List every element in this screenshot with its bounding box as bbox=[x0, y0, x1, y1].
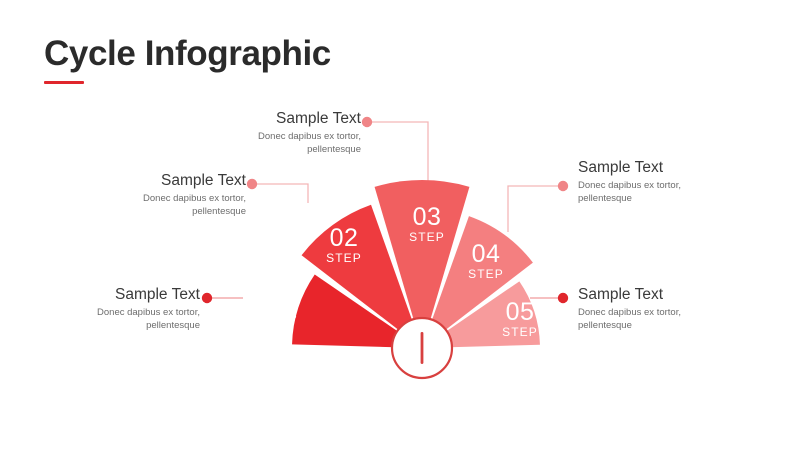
callout-01[interactable]: Sample Text Donec dapibus ex tortor,pell… bbox=[72, 286, 200, 332]
callout-dot-01[interactable] bbox=[202, 293, 212, 303]
callout-02[interactable]: Sample Text Donec dapibus ex tortor,pell… bbox=[118, 172, 246, 218]
callout-description-05: Donec dapibus ex tortor,pellentesque bbox=[578, 307, 718, 333]
cycle-fan-diagram bbox=[0, 0, 800, 450]
callout-description-01: Donec dapibus ex tortor,pellentesque bbox=[72, 307, 200, 333]
callout-dot-02[interactable] bbox=[247, 179, 257, 189]
callout-05[interactable]: Sample Text Donec dapibus ex tortor,pell… bbox=[578, 286, 718, 332]
callout-title-01: Sample Text bbox=[72, 286, 200, 304]
callout-03[interactable]: Sample Text Donec dapibus ex tortor,pell… bbox=[233, 110, 361, 156]
callout-description-03: Donec dapibus ex tortor,pellentesque bbox=[233, 131, 361, 157]
callout-dot-05[interactable] bbox=[558, 293, 568, 303]
callout-dot-03[interactable] bbox=[362, 117, 372, 127]
callout-title-04: Sample Text bbox=[578, 159, 718, 177]
callout-04[interactable]: Sample Text Donec dapibus ex tortor,pell… bbox=[578, 159, 718, 205]
callout-title-03: Sample Text bbox=[233, 110, 361, 128]
connector-line-02 bbox=[256, 184, 308, 203]
connector-line-03 bbox=[371, 122, 428, 184]
connector-line-04 bbox=[508, 186, 559, 232]
callout-description-04: Donec dapibus ex tortor,pellentesque bbox=[578, 180, 718, 206]
callout-title-05: Sample Text bbox=[578, 286, 718, 304]
center-hub-bar-icon bbox=[421, 332, 424, 364]
callout-title-02: Sample Text bbox=[118, 172, 246, 190]
callout-description-02: Donec dapibus ex tortor,pellentesque bbox=[118, 193, 246, 219]
slide-canvas: Cycle Infographic 01 STE bbox=[0, 0, 800, 450]
center-hub[interactable] bbox=[392, 318, 452, 378]
callout-dot-04[interactable] bbox=[558, 181, 568, 191]
